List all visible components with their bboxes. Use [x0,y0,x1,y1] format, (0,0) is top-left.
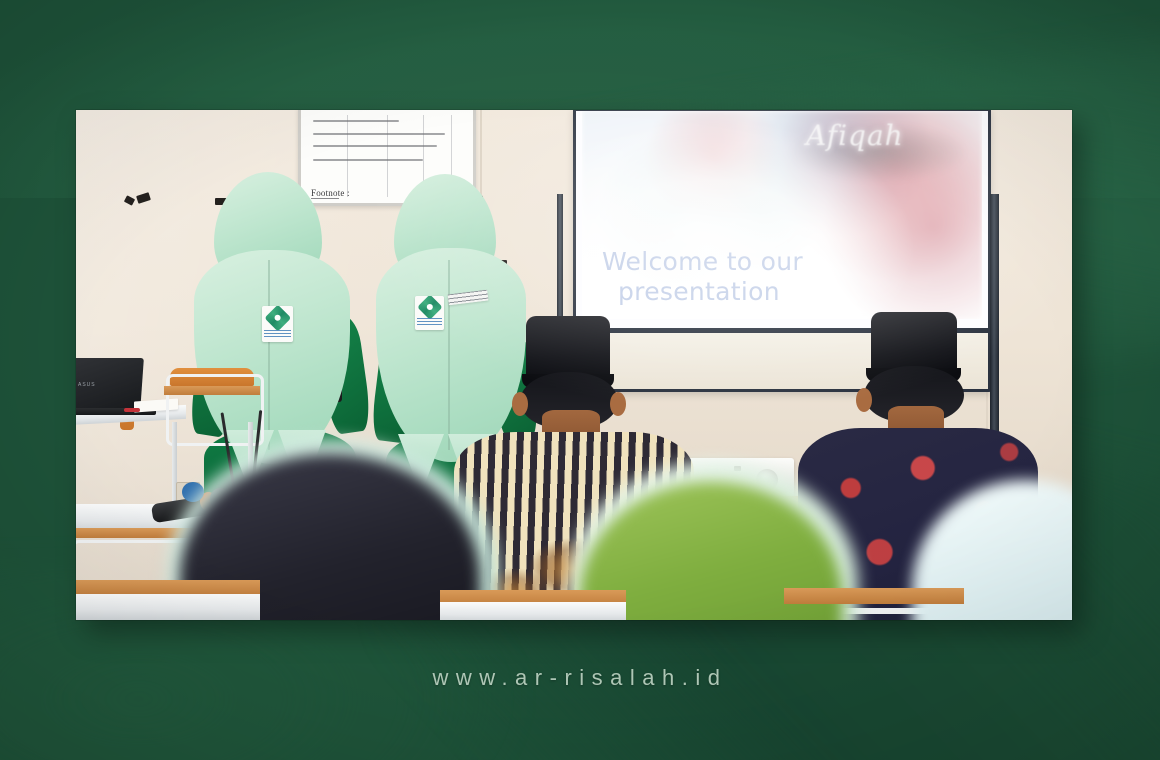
badge-text [417,318,441,327]
laptop-brand-label: ASUS [78,382,96,388]
hijab-seam [268,260,270,450]
desk-edge-wood [164,386,260,395]
website-caption: www.ar-risalah.id [0,665,1160,691]
red-marker [124,408,140,412]
slide-title-line2: presentation [618,279,862,304]
badge-text [264,330,290,339]
school-badge [415,296,444,330]
flipchart-footnote-label: Footnote : [311,188,350,198]
ear-right [610,392,626,416]
ear-left [512,392,528,416]
bottom-desk-surface [76,594,260,620]
ear-left [856,388,872,412]
school-badge [262,306,293,342]
bottom-desk-edge [784,588,964,604]
poster-canvas: Footnote : Afiqah Welcome to our present… [0,0,1160,760]
classroom-photo: Footnote : Afiqah Welcome to our present… [76,110,1072,620]
slide-title-line1: Welcome to our [602,247,803,276]
hijab-seam [448,260,450,450]
slide-title: Welcome to our presentation [602,249,862,304]
bottom-desk-surface [440,602,626,620]
